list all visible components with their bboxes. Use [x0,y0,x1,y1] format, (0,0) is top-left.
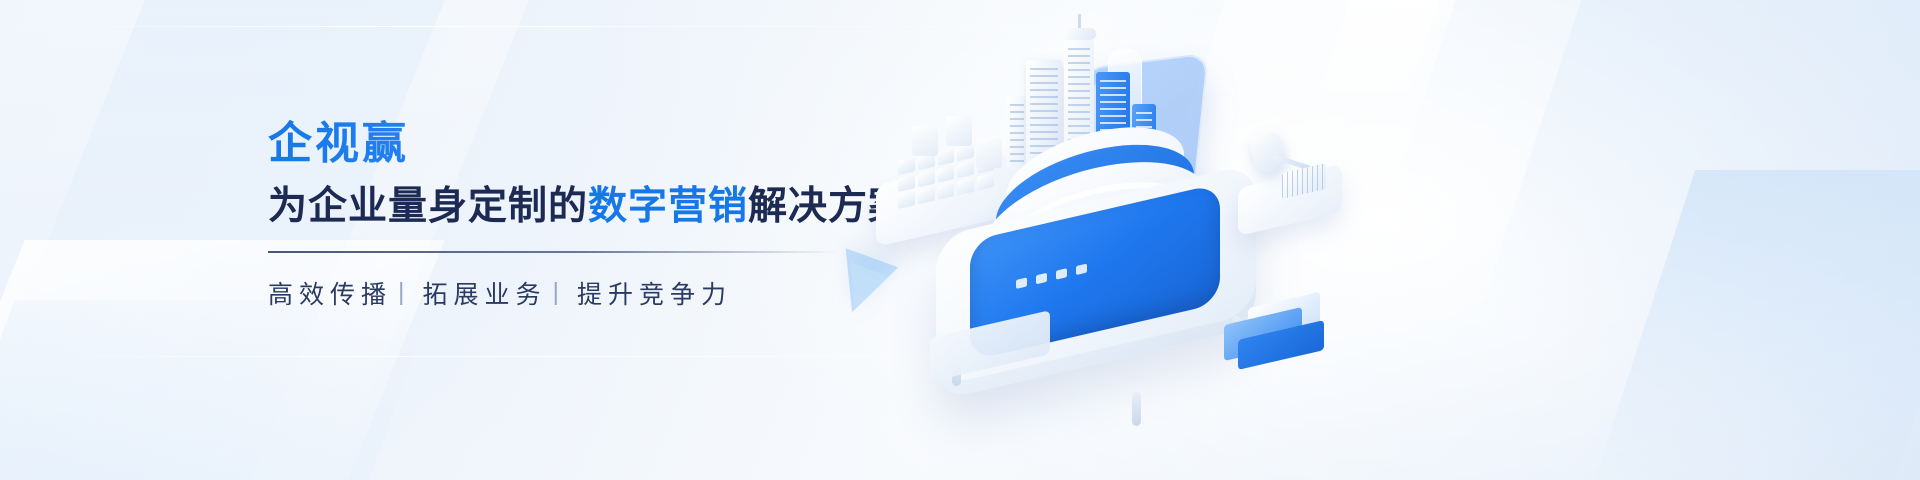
hero-illustration [820,0,1920,480]
tower-cap-icon [1062,28,1096,40]
headline-divider [268,251,840,253]
hero-headline: 为企业量身定制的数字营销解决方案 [268,184,908,231]
hero-banner: 企视赢 为企业量身定制的数字营销解决方案 高效传播 | 拓展业务 | 提升竞争力 [0,0,1920,480]
hero-tagline: 高效传播 | 拓展业务 | 提升竞争力 [268,275,908,311]
small-building-block-2 [946,116,972,146]
tagline-item-1: 高效传播 [268,275,392,311]
tagline-item-2: 拓展业务 [423,275,547,311]
tagline-separator-1: | [398,278,411,307]
headline-prefix: 为企业量身定制的 [268,185,588,228]
city-tower-4 [1006,96,1028,168]
small-building-block-1 [912,126,938,156]
hero-text-block: 企视赢 为企业量身定制的数字营销解决方案 高效传播 | 拓展业务 | 提升竞争力 [268,118,908,311]
tagline-item-3: 提升竞争力 [577,275,732,311]
platform-leg-2 [1132,392,1141,426]
small-building-block-3 [976,138,1002,168]
brand-title: 企视赢 [268,118,908,170]
background-corner-shape [0,300,435,480]
tagline-separator-2: | [553,278,566,307]
headline-highlight: 数字营销 [588,185,748,228]
